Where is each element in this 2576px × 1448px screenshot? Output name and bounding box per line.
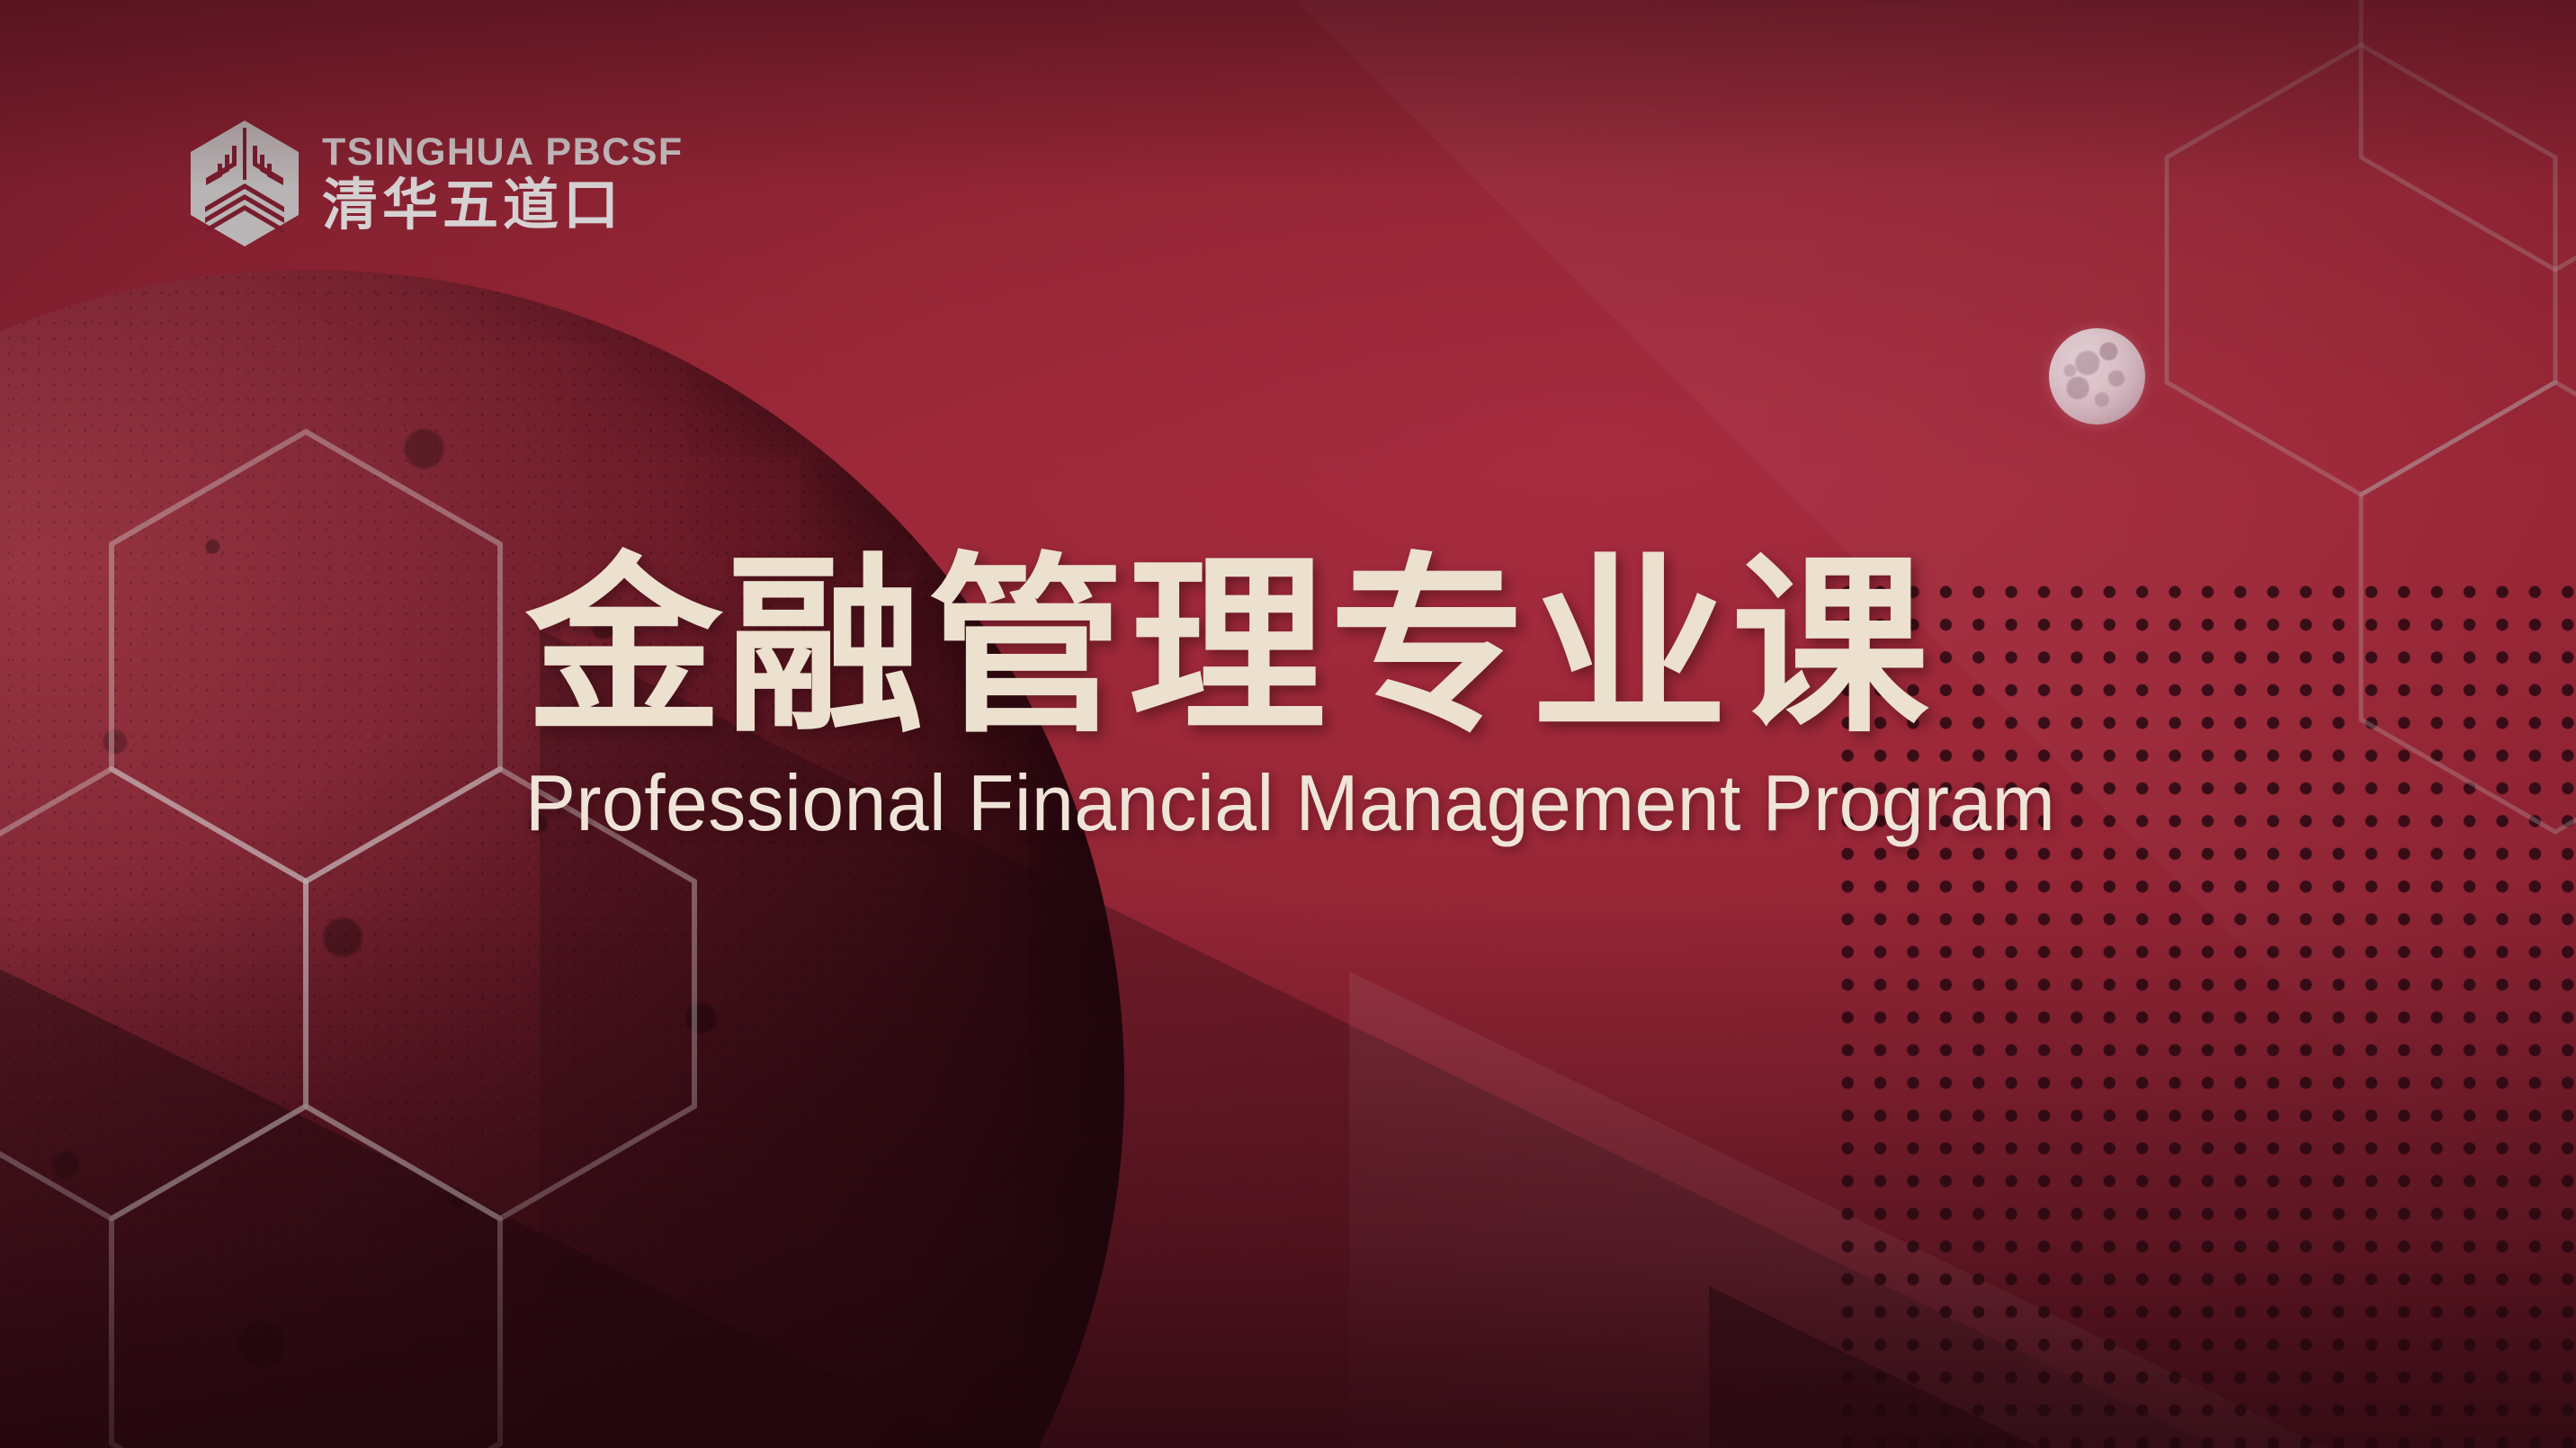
hexagon-outline	[112, 432, 500, 881]
hexagon-outline	[2361, 0, 2576, 270]
logo-chinese-name: 清华五道口	[322, 178, 684, 234]
tsinghua-hexagon-cube-icon	[187, 119, 302, 248]
hexagon-outline	[0, 769, 306, 1219]
title-slide: TSINGHUA PBCSF 清华五道口 金融管理专业课 Professiona…	[0, 0, 2576, 1448]
logo-text-block: TSINGHUA PBCSF 清华五道口	[322, 133, 684, 234]
logo-english-name: TSINGHUA PBCSF	[322, 133, 684, 172]
headline-block: 金融管理专业课 Professional Financial Managemen…	[525, 552, 2054, 843]
hexagon-outline	[112, 1106, 500, 1448]
page-title: 金融管理专业课	[525, 552, 2100, 744]
hexagon-outline	[2361, 382, 2576, 832]
brand-logo: TSINGHUA PBCSF 清华五道口	[187, 119, 684, 248]
page-subtitle: Professional Financial Management Progra…	[525, 764, 1986, 843]
